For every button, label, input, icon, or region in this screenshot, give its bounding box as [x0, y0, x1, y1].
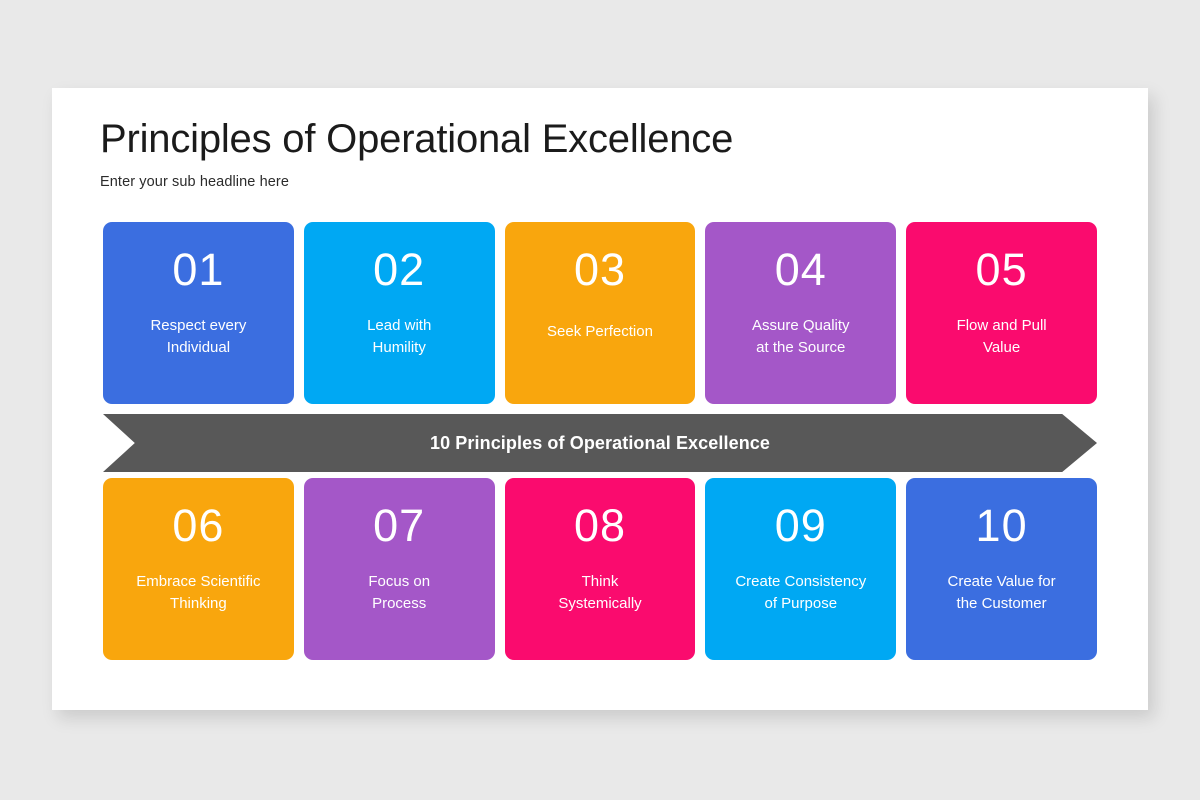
principle-card-label: Respect every Individual [144, 315, 252, 358]
principle-card-number: 08 [574, 502, 626, 549]
principle-card-number: 01 [172, 246, 224, 293]
principle-card-label: Think Systemically [552, 571, 647, 614]
principle-card-number: 03 [574, 246, 626, 293]
principle-card-06[interactable]: 06Embrace Scientific Thinking [103, 478, 294, 660]
principle-card-number: 06 [172, 502, 224, 549]
principle-card-05[interactable]: 05Flow and Pull Value [906, 222, 1097, 404]
principle-card-label: Flow and Pull Value [951, 315, 1053, 358]
principle-card-label: Assure Quality at the Source [746, 315, 856, 358]
principle-card-10[interactable]: 10Create Value for the Customer [906, 478, 1097, 660]
principle-card-03[interactable]: 03Seek Perfection [505, 222, 696, 404]
principle-card-label: Focus on Process [362, 571, 436, 614]
principle-card-number: 10 [976, 502, 1028, 549]
principle-card-07[interactable]: 07Focus on Process [304, 478, 495, 660]
principle-card-label: Seek Perfection [541, 321, 659, 342]
principle-card-02[interactable]: 02Lead with Humility [304, 222, 495, 404]
principle-card-04[interactable]: 04Assure Quality at the Source [705, 222, 896, 404]
page-subtitle: Enter your sub headline here [100, 174, 1000, 190]
principle-card-label: Create Value for the Customer [942, 571, 1062, 614]
slide-header: Principles of Operational Excellence Ent… [100, 116, 1000, 190]
principle-card-number: 04 [775, 246, 827, 293]
banner-label: 10 Principles of Operational Excellence [103, 414, 1097, 472]
page-title: Principles of Operational Excellence [100, 116, 1000, 163]
principle-card-number: 09 [775, 502, 827, 549]
principle-card-row-top: 01Respect every Individual02Lead with Hu… [103, 222, 1097, 404]
principle-card-label: Lead with Humility [361, 315, 437, 358]
slide-canvas: Principles of Operational Excellence Ent… [52, 88, 1148, 710]
principle-card-number: 07 [373, 502, 425, 549]
principle-card-09[interactable]: 09Create Consistency of Purpose [705, 478, 896, 660]
principle-card-label: Embrace Scientific Thinking [130, 571, 266, 614]
center-banner: 10 Principles of Operational Excellence [103, 414, 1097, 472]
principle-card-number: 05 [976, 246, 1028, 293]
principle-card-number: 02 [373, 246, 425, 293]
principle-card-label: Create Consistency of Purpose [729, 571, 872, 614]
principle-card-row-bottom: 06Embrace Scientific Thinking07Focus on … [103, 478, 1097, 660]
principle-card-01[interactable]: 01Respect every Individual [103, 222, 294, 404]
principle-card-08[interactable]: 08Think Systemically [505, 478, 696, 660]
